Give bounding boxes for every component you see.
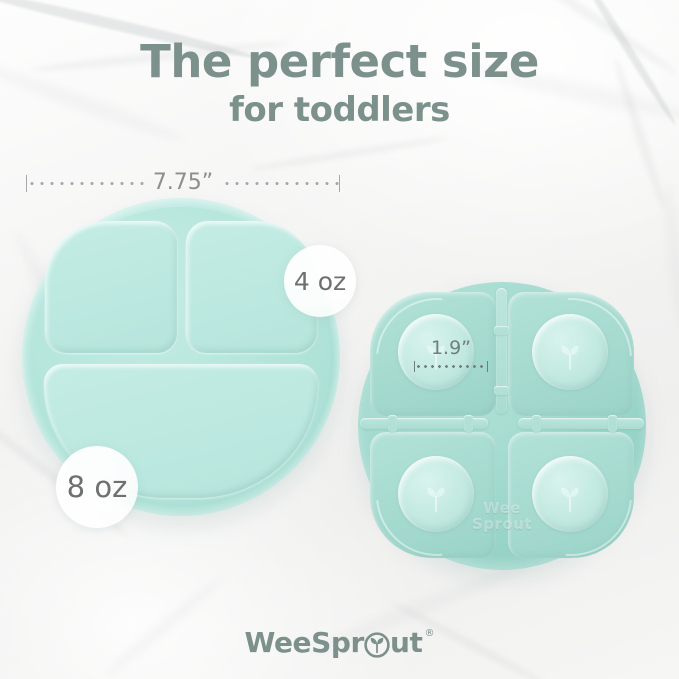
embossed-brand-mark: Wee Sprout <box>472 500 532 532</box>
underside-nub <box>532 415 541 432</box>
suction-cup-dimension: 1.9” <box>414 338 488 372</box>
page-title: The perfect size <box>0 36 679 88</box>
suction-cup-bottom-left <box>398 456 474 532</box>
underside-nub <box>464 415 473 432</box>
registered-trademark-mark: ® <box>425 628 435 639</box>
capacity-badge-8oz: 8 oz <box>56 446 138 528</box>
sprout-emboss-icon <box>553 337 587 371</box>
dimension-end-cap-right <box>487 361 488 372</box>
plate-width-label: 7.75” <box>144 170 222 195</box>
underside-nub <box>608 415 617 432</box>
sprout-emboss-icon <box>553 479 587 513</box>
dimension-leader-right <box>222 182 339 185</box>
suction-cup-bottom-right <box>532 456 608 532</box>
embossed-brand-line2: Sprout <box>472 516 532 532</box>
capacity-badge-4oz: 4 oz <box>284 245 356 317</box>
plate-compartment-top-left <box>45 221 177 353</box>
product-infographic: The perfect size for toddlers 7.75” <box>0 0 679 679</box>
underside-nub <box>494 326 509 335</box>
suction-cup-top-right <box>532 314 608 390</box>
brand-name-part-b: ut <box>390 626 423 659</box>
page-subtitle: for toddlers <box>0 90 679 130</box>
brand-logo: WeeSpr ut ® <box>0 626 679 659</box>
dimension-end-cap-right <box>339 175 340 192</box>
underside-ridge-vertical <box>496 288 507 414</box>
underside-nub <box>388 415 397 432</box>
embossed-brand-line1: Wee <box>472 500 532 516</box>
brand-name-part-a: WeeSpr <box>244 626 364 659</box>
sprout-emboss-icon <box>419 479 453 513</box>
divided-plate-underside-view: Wee Sprout <box>358 282 646 570</box>
sprout-logo-icon <box>364 632 390 658</box>
dimension-leader-left <box>27 182 144 185</box>
dimension-leader <box>415 365 487 368</box>
underside-nub <box>494 386 509 395</box>
suction-cup-dimension-line <box>414 360 488 372</box>
plate-width-dimension: 7.75” <box>26 170 340 196</box>
suction-cup-dimension-label: 1.9” <box>414 338 488 359</box>
